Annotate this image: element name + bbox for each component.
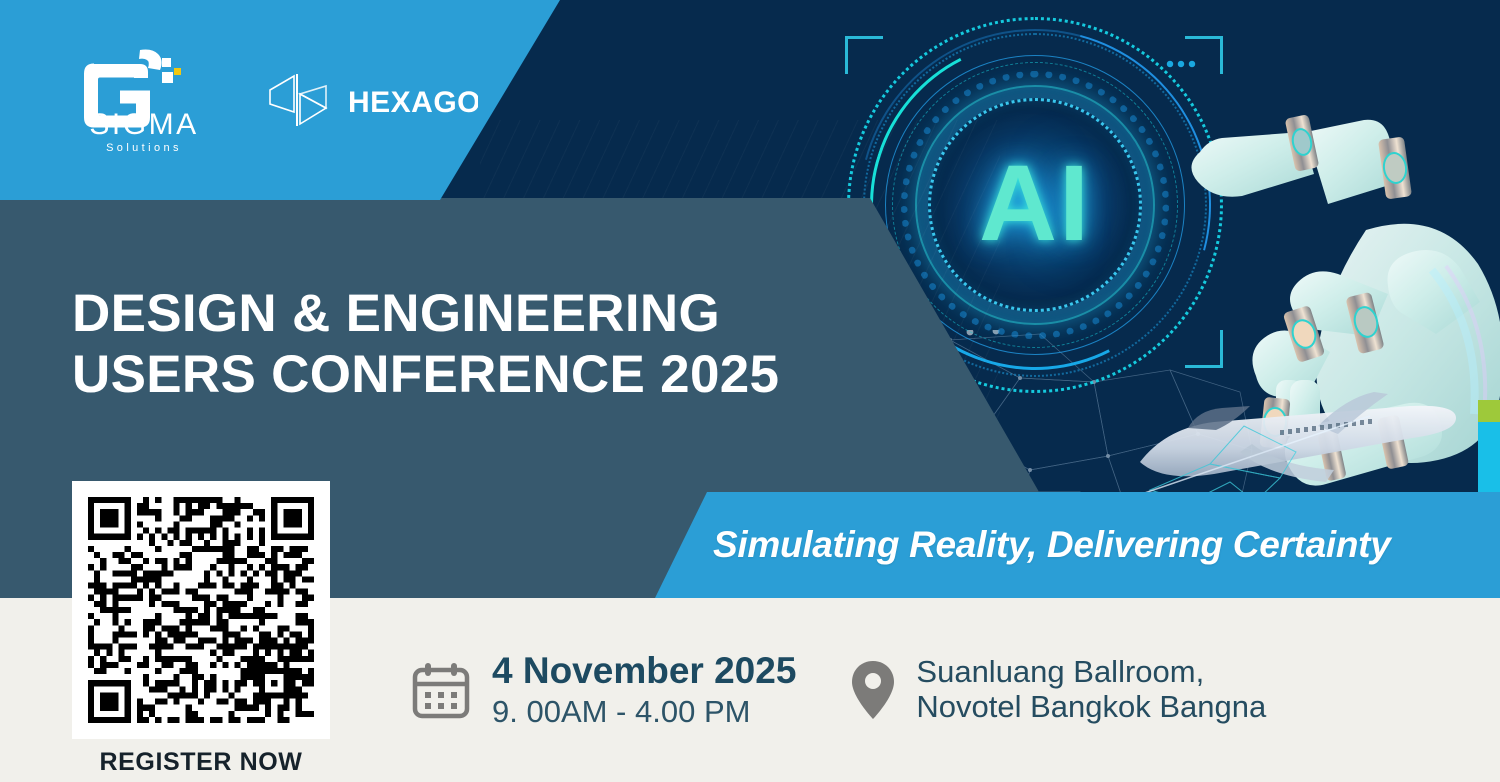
location-pin-icon bbox=[850, 659, 896, 721]
sigma-solutions-logo[interactable]: SIGMA Solutions bbox=[78, 44, 210, 156]
title-line-2: USERS CONFERENCE 2025 bbox=[72, 345, 892, 406]
sigma-wordmark: SIGMA bbox=[89, 108, 198, 141]
tagline-banner: Simulating Reality, Delivering Certainty bbox=[655, 492, 1500, 598]
sigma-subtitle: Solutions bbox=[106, 142, 182, 154]
hud-bracket-top-left bbox=[845, 36, 883, 74]
venue-line-1: Suanluang Ballroom, bbox=[916, 655, 1266, 690]
event-banner: AI bbox=[0, 0, 1500, 782]
venue-line-2: Novotel Bangkok Bangna bbox=[916, 690, 1266, 725]
event-date-item: 4 November 2025 9. 00AM - 4.00 PM bbox=[410, 650, 796, 729]
title-line-1: DESIGN & ENGINEERING bbox=[72, 284, 892, 345]
tagline-text: Simulating Reality, Delivering Certainty bbox=[713, 524, 1390, 566]
register-now-label: REGISTER NOW bbox=[72, 748, 330, 777]
hud-bracket-top-right bbox=[1185, 36, 1223, 74]
page-title: DESIGN & ENGINEERING USERS CONFERENCE 20… bbox=[72, 284, 892, 406]
right-edge-green-accent bbox=[1478, 400, 1500, 422]
event-venue-text: Suanluang Ballroom, Novotel Bangkok Bang… bbox=[916, 655, 1266, 724]
event-date: 4 November 2025 bbox=[492, 650, 796, 691]
register-cta[interactable]: REGISTER NOW bbox=[72, 481, 330, 777]
hud-indicator-dots bbox=[1166, 60, 1196, 68]
qr-code[interactable] bbox=[88, 497, 314, 723]
hexagon-logo[interactable]: HEXAGON bbox=[264, 68, 478, 132]
sigma-logo-accent-dot bbox=[174, 68, 181, 75]
qr-code-frame[interactable] bbox=[72, 481, 330, 739]
calendar-icon bbox=[410, 659, 472, 721]
logo-row: SIGMA Solutions HEXAGON bbox=[0, 0, 520, 200]
event-date-text: 4 November 2025 9. 00AM - 4.00 PM bbox=[492, 650, 796, 729]
event-details-row: 4 November 2025 9. 00AM - 4.00 PM Suanlu… bbox=[410, 598, 1500, 782]
hexagon-wordmark: HEXAGON bbox=[348, 86, 478, 119]
event-venue-item: Suanluang Ballroom, Novotel Bangkok Bang… bbox=[850, 655, 1266, 724]
ai-label: AI bbox=[979, 140, 1091, 265]
event-time: 9. 00AM - 4.00 PM bbox=[492, 695, 796, 730]
